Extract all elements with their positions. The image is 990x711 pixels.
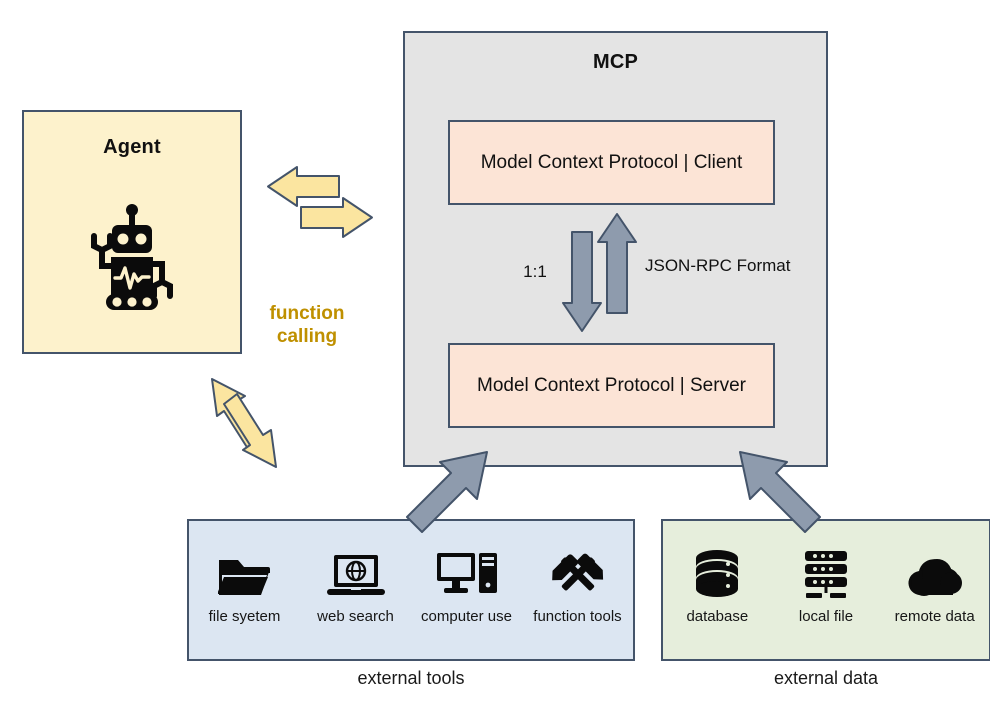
agent-title: Agent — [24, 136, 240, 159]
arrow-agent-to-mcp — [301, 198, 372, 237]
data-item-remote-data[interactable]: remote data — [885, 543, 985, 625]
crossed-hammers-icon — [550, 543, 606, 599]
tool-label: web search — [317, 608, 394, 625]
external-data-box: database — [661, 519, 990, 661]
function-calling-label: function calling — [247, 302, 367, 348]
external-data-icon-row: database — [663, 543, 989, 625]
external-data-caption: external data — [661, 668, 990, 689]
server-rack-icon — [800, 543, 852, 599]
arrow-tools-to-agent — [212, 379, 263, 452]
tool-item-computer-use[interactable]: computer use — [415, 543, 519, 625]
mcp-title: MCP — [405, 51, 826, 74]
data-label: database — [686, 608, 748, 625]
external-tools-icon-row: file syetem web search — [189, 543, 633, 625]
function-calling-line-2: calling — [247, 325, 367, 348]
laptop-globe-icon — [327, 543, 385, 599]
arrow-mcp-to-agent — [268, 167, 339, 206]
data-label: local file — [799, 608, 853, 625]
external-tools-caption: external tools — [187, 668, 635, 689]
function-calling-line-1: function — [247, 302, 367, 325]
tool-label: file syetem — [209, 608, 281, 625]
mcp-client-label: Model Context Protocol | Client — [450, 152, 773, 174]
agent-box: Agent — [22, 110, 242, 354]
desktop-tower-icon — [436, 543, 498, 599]
tool-item-web-search[interactable]: web search — [304, 543, 408, 625]
json-rpc-format-label: JSON-RPC Format — [645, 256, 790, 276]
mcp-server-box: Model Context Protocol | Server — [448, 343, 775, 428]
database-cylinder-icon — [691, 543, 743, 599]
mcp-client-box: Model Context Protocol | Client — [448, 120, 775, 205]
robot-icon — [84, 204, 180, 315]
tool-label: computer use — [421, 608, 512, 625]
arrow-agent-to-tools — [224, 394, 276, 467]
tool-label: function tools — [533, 608, 621, 625]
tool-item-function-tools[interactable]: function tools — [526, 543, 630, 625]
mcp-server-label: Model Context Protocol | Server — [450, 375, 773, 397]
data-item-local-file[interactable]: local file — [776, 543, 876, 625]
tool-item-file-system[interactable]: file syetem — [193, 543, 297, 625]
diagram-canvas: Agent — [0, 0, 990, 711]
folder-icon — [218, 543, 272, 599]
data-item-database[interactable]: database — [667, 543, 767, 625]
cloud-icon — [904, 543, 966, 599]
external-tools-box: file syetem web search — [187, 519, 635, 661]
data-label: remote data — [895, 608, 975, 625]
connection-ratio-label: 1:1 — [505, 262, 565, 282]
